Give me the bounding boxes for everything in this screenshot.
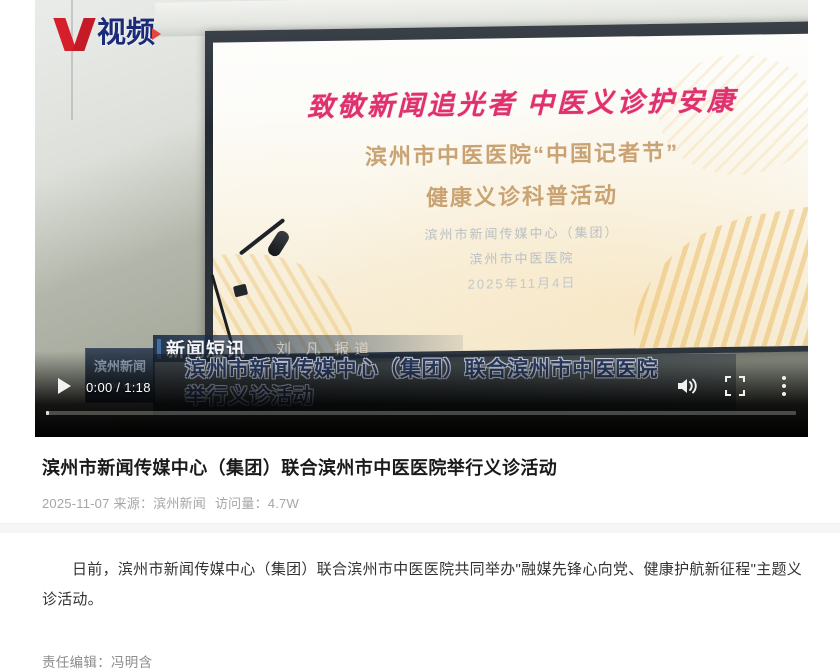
source-label: 来源： bbox=[114, 496, 154, 511]
more-dot-3 bbox=[782, 392, 786, 396]
play-triangle-icon bbox=[152, 28, 161, 40]
article-body: 日前，滨州市新闻传媒中心（集团）联合滨州市中医医院共同举办"融媒先锋心向党、健康… bbox=[0, 533, 840, 615]
slide-content: 致敬新闻追光者 中医义诊护安康 滨州市中医医院“中国记者节” 健康义诊科普活动 … bbox=[213, 33, 808, 354]
article-paragraph: 日前，滨州市新闻传媒中心（集团）联合滨州市中医医院共同举办"融媒先锋心向党、健康… bbox=[42, 555, 802, 615]
views-value: 4.7W bbox=[268, 496, 299, 511]
projection-screen: 致敬新闻追光者 中医义诊护安康 滨州市中医医院“中国记者节” 健康义诊科普活动 … bbox=[213, 33, 808, 354]
fullscreen-icon[interactable] bbox=[725, 376, 745, 396]
article-title: 滨州市新闻传媒中心（集团）联合滨州市中医医院举行义诊活动 bbox=[0, 437, 840, 481]
play-button[interactable] bbox=[53, 375, 75, 397]
time-display: 0:00 / 1:18 bbox=[86, 380, 151, 395]
progress-bar[interactable] bbox=[46, 411, 796, 415]
meta-divider bbox=[0, 523, 840, 533]
logo-text: 视频 bbox=[97, 19, 155, 48]
article-editor: 责任编辑：冯明含 bbox=[0, 615, 840, 671]
volume-icon[interactable] bbox=[676, 375, 700, 397]
progress-fill bbox=[46, 411, 49, 415]
article-meta: 2025-11-07来源：滨州新闻访问量：4.7W bbox=[0, 481, 840, 512]
logo-v-icon bbox=[56, 18, 96, 49]
source-value: 滨州新闻 bbox=[153, 496, 206, 511]
more-dot-1 bbox=[782, 376, 786, 380]
views-label: 访问量： bbox=[215, 496, 268, 511]
channel-logo: 视频 bbox=[56, 16, 155, 50]
more-dot-2 bbox=[782, 384, 786, 388]
article-section: 滨州市新闻传媒中心（集团）联合滨州市中医医院举行义诊活动 2025-11-07来… bbox=[0, 437, 840, 671]
player-controls: 0:00 / 1:18 bbox=[35, 351, 808, 437]
article-date: 2025-11-07 bbox=[42, 496, 110, 511]
slide-subtitle-line2: 健康义诊科普活动 bbox=[213, 174, 808, 215]
slide-organizer-line2: 滨州市中医医院 bbox=[213, 243, 808, 271]
more-options-icon[interactable] bbox=[775, 375, 793, 397]
slide-headline: 致敬新闻追光者 中医义诊护安康 bbox=[213, 77, 808, 125]
video-player[interactable]: 致敬新闻追光者 中医义诊护安康 滨州市中医医院“中国记者节” 健康义诊科普活动 … bbox=[35, 0, 808, 437]
slide-subtitle-line1: 滨州市中医医院“中国记者节” bbox=[213, 132, 808, 173]
slide-date: 2025年11月4日 bbox=[213, 268, 808, 296]
article-page: 致敬新闻追光者 中医义诊护安康 滨州市中医医院“中国记者节” 健康义诊科普活动 … bbox=[0, 0, 840, 647]
slide-organizer-line1: 滨州市新闻传媒中心（集团） bbox=[213, 218, 808, 246]
